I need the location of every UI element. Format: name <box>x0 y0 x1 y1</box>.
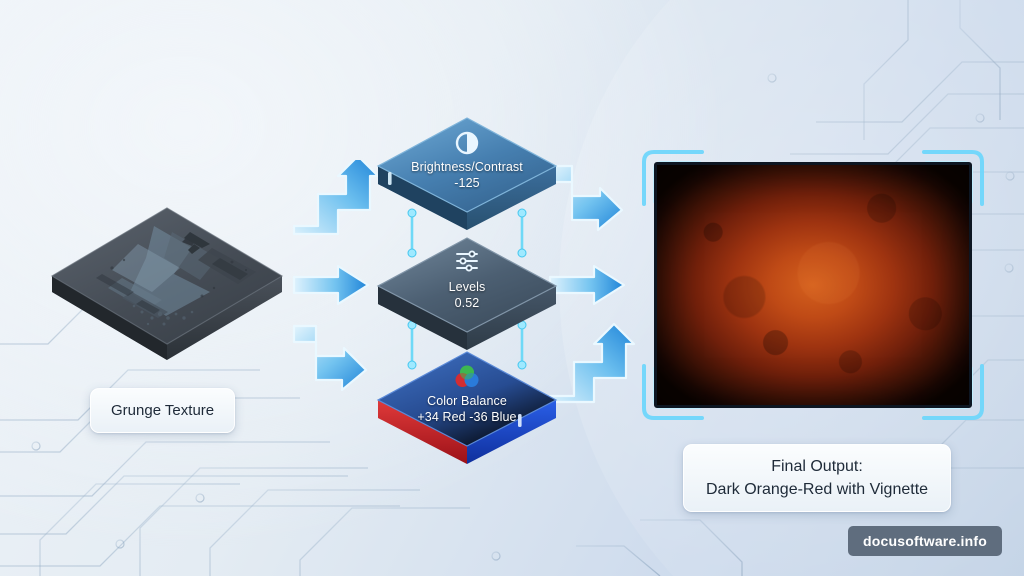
stage-value: +34 Red -36 Blue <box>372 410 562 425</box>
watermark: docusoftware.info <box>848 526 1002 556</box>
stage-label-brightness-contrast: Brightness/Contrast -125 <box>372 160 562 191</box>
stage-value: 0.52 <box>372 296 562 311</box>
rgb-venn-icon <box>454 364 480 390</box>
output-texture-grain <box>657 165 969 405</box>
stage-title: Levels <box>449 280 486 294</box>
stage-card-levels[interactable]: Levels 0.52 <box>372 232 562 350</box>
output-frame <box>632 140 994 430</box>
label-final-output: Final Output: Dark Orange-Red with Vigne… <box>683 444 951 512</box>
stage-label-color-balance: Color Balance +34 Red -36 Blue <box>372 394 562 425</box>
final-output-preview <box>654 162 972 408</box>
watermark-text: docusoftware.info <box>863 533 987 549</box>
half-circle-contrast-icon <box>454 130 480 156</box>
label-text-line1: Final Output: <box>706 455 928 478</box>
stage-label-levels: Levels 0.52 <box>372 280 562 311</box>
arrow-brightness-to-output <box>548 160 644 246</box>
stage-value: -125 <box>372 176 562 191</box>
label-grunge-texture: Grunge Texture <box>90 388 235 433</box>
sliders-icon <box>454 250 480 272</box>
stage-card-brightness-contrast[interactable]: Brightness/Contrast -125 <box>372 112 562 230</box>
grunge-texture-plate <box>42 196 292 371</box>
label-text: Grunge Texture <box>111 402 214 419</box>
stage-card-color-balance[interactable]: Color Balance +34 Red -36 Blue <box>372 346 562 464</box>
stage-title: Color Balance <box>427 394 507 408</box>
stage-title: Brightness/Contrast <box>411 160 523 174</box>
arrow-source-to-brightness <box>292 160 384 240</box>
label-text-line2: Dark Orange-Red with Vignette <box>706 478 928 501</box>
arrow-source-to-levels <box>292 262 372 308</box>
